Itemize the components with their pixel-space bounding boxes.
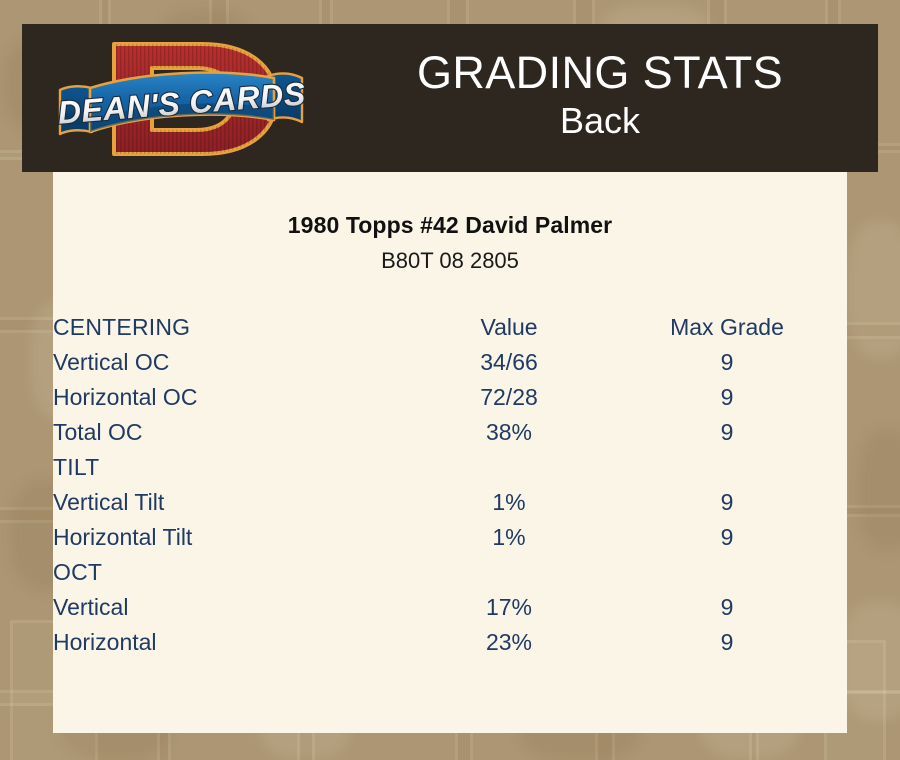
- table-row: Vertical OC34/669: [53, 345, 847, 380]
- header-titles: GRADING STATS Back: [322, 24, 878, 172]
- row-label: Vertical Tilt: [53, 485, 411, 520]
- card-serial-number: B80T 08 2805: [53, 248, 847, 274]
- table-row: Horizontal Tilt1%9: [53, 520, 847, 555]
- section-header-spacer: [607, 450, 847, 485]
- section-header-centering: CENTERING: [53, 310, 411, 345]
- header-banner: DEAN'S CARDS GRADING STATS Back: [22, 24, 878, 172]
- table-section-header-row: TILT: [53, 450, 847, 485]
- table-row: Vertical17%9: [53, 590, 847, 625]
- table-row: Horizontal OC72/289: [53, 380, 847, 415]
- table-row: Vertical Tilt1%9: [53, 485, 847, 520]
- row-label: Horizontal Tilt: [53, 520, 411, 555]
- deans-cards-logo[interactable]: DEAN'S CARDS: [52, 28, 312, 170]
- row-max-grade: 9: [607, 625, 847, 660]
- column-header-max-grade: Max Grade: [607, 310, 847, 345]
- section-header-oct: OCT: [53, 555, 411, 590]
- table-row: Horizontal23%9: [53, 625, 847, 660]
- row-label: Vertical: [53, 590, 411, 625]
- row-label: Total OC: [53, 415, 411, 450]
- row-value: 1%: [411, 485, 607, 520]
- grading-stats-table: CENTERINGValueMax GradeVertical OC34/669…: [53, 310, 847, 660]
- row-max-grade: 9: [607, 485, 847, 520]
- row-max-grade: 9: [607, 520, 847, 555]
- section-header-spacer: [411, 450, 607, 485]
- row-value: 38%: [411, 415, 607, 450]
- page-title: GRADING STATS: [417, 49, 783, 96]
- column-header-value: Value: [411, 310, 607, 345]
- row-value: 1%: [411, 520, 607, 555]
- row-label: Horizontal: [53, 625, 411, 660]
- row-max-grade: 9: [607, 415, 847, 450]
- row-value: 72/28: [411, 380, 607, 415]
- table-section-header-row: OCT: [53, 555, 847, 590]
- row-label: Vertical OC: [53, 345, 411, 380]
- row-value: 23%: [411, 625, 607, 660]
- section-header-tilt: TILT: [53, 450, 411, 485]
- row-label: Horizontal OC: [53, 380, 411, 415]
- row-max-grade: 9: [607, 590, 847, 625]
- row-max-grade: 9: [607, 345, 847, 380]
- row-value: 34/66: [411, 345, 607, 380]
- table-section-header-row: CENTERINGValueMax Grade: [53, 310, 847, 345]
- card-title: 1980 Topps #42 David Palmer: [53, 212, 847, 239]
- content-panel: 1980 Topps #42 David Palmer B80T 08 2805…: [53, 172, 847, 733]
- page-subtitle: Back: [560, 98, 640, 143]
- row-value: 17%: [411, 590, 607, 625]
- row-max-grade: 9: [607, 380, 847, 415]
- section-header-spacer: [411, 555, 607, 590]
- section-header-spacer: [607, 555, 847, 590]
- table-row: Total OC38%9: [53, 415, 847, 450]
